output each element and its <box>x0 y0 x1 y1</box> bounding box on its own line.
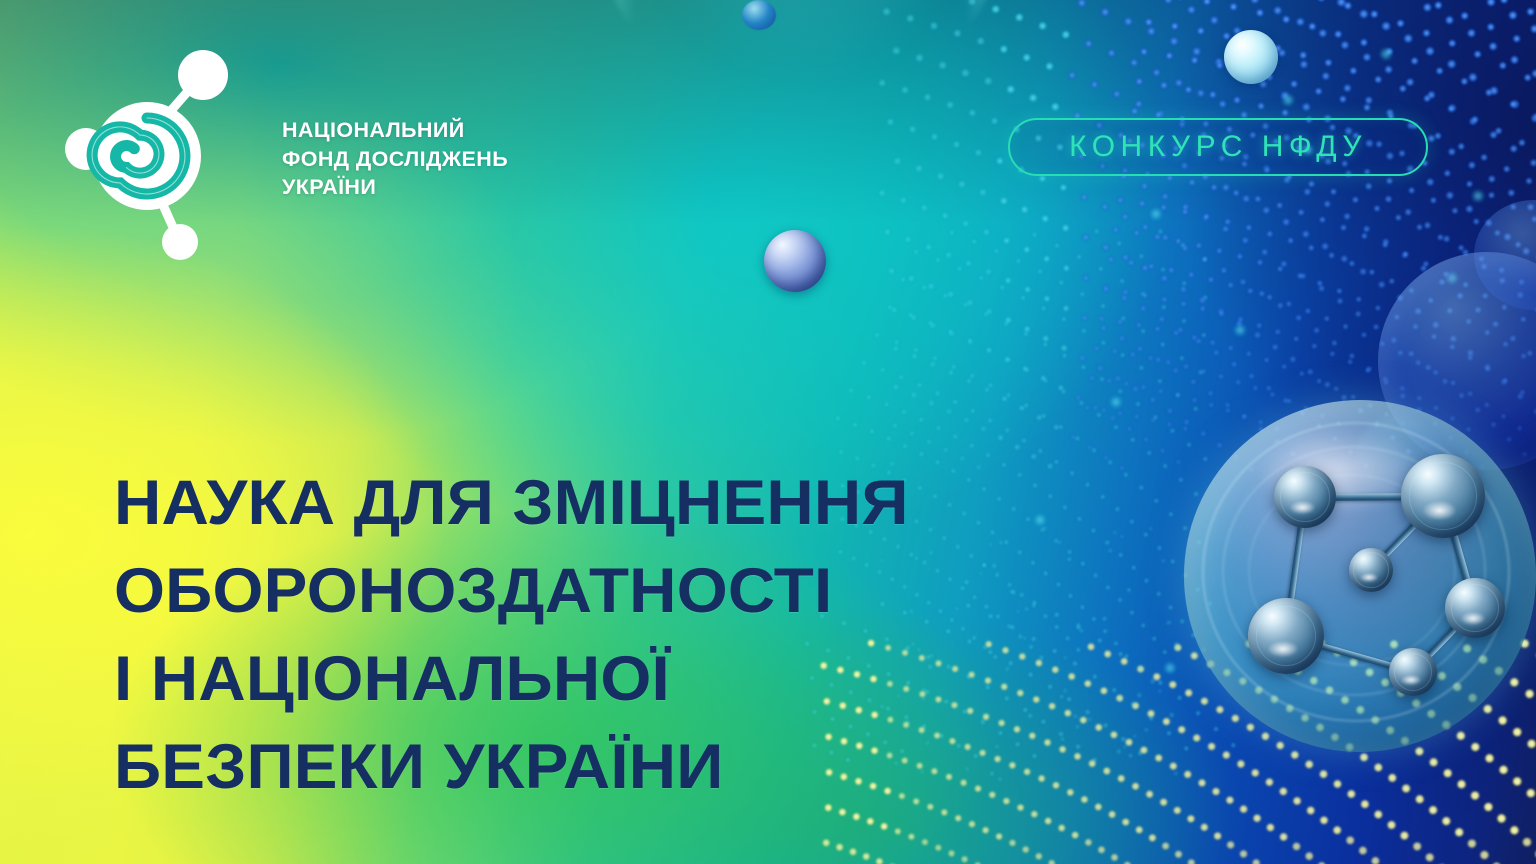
metallic-sphere-center <box>764 230 826 292</box>
nrfu-molecule-spiral-logo-icon <box>64 44 238 268</box>
headline-line-2: ОБОРОНОЗДАТНОСТІ <box>114 560 1112 623</box>
logo-wordmark: НАЦІОНАЛЬНИЙ ФОНД ДОСЛІДЖЕНЬ УКРАЇНИ <box>282 116 508 202</box>
atom-rim <box>1409 462 1476 529</box>
molecule-atom-bottom <box>1389 648 1437 696</box>
molecule-atom-right <box>1445 578 1505 638</box>
molecule-atom-lower-left <box>1248 598 1324 674</box>
headline-line-3: І НАЦІОНАЛЬНОЇ <box>114 648 1112 711</box>
banner-root: НАЦІОНАЛЬНИЙ ФОНД ДОСЛІДЖЕНЬ УКРАЇНИ КОН… <box>0 0 1536 864</box>
atom-rim <box>1451 584 1499 632</box>
pale-cyan-sphere-top-right <box>1224 30 1278 84</box>
page-title: НАУКА ДЛЯ ЗМІЦНЕННЯ ОБОРОНОЗДАТНОСТІ І Н… <box>114 472 1074 799</box>
atom-rim <box>1353 552 1388 587</box>
headline-line-1: НАУКА ДЛЯ ЗМІЦНЕННЯ <box>114 472 1112 535</box>
logo-line-3: УКРАЇНИ <box>282 173 508 202</box>
atom-rim <box>1394 653 1432 691</box>
atom-highlight <box>1461 612 1485 625</box>
molecule-atom-upper-right <box>1401 454 1485 538</box>
contest-badge[interactable]: КОНКУРС НФДУ <box>1008 118 1428 176</box>
atom-rim <box>1256 606 1317 667</box>
contest-badge-label: КОНКУРС НФДУ <box>1069 130 1367 164</box>
headline-line-4: БЕЗПЕКИ УКРАЇНИ <box>114 736 1112 799</box>
small-droplet-icon <box>742 0 776 30</box>
logo-line-2: ФОНД ДОСЛІДЖЕНЬ <box>282 145 508 174</box>
atom-rim <box>1280 472 1330 522</box>
molecule-in-bubble-graphic <box>1184 400 1536 752</box>
logo-line-1: НАЦІОНАЛЬНИЙ <box>282 116 508 145</box>
molecule-atom-center <box>1349 548 1393 592</box>
molecule-atom-upper-left <box>1274 466 1336 528</box>
logo[interactable]: НАЦІОНАЛЬНИЙ ФОНД ДОСЛІДЖЕНЬ УКРАЇНИ <box>64 44 494 268</box>
atom-highlight <box>1423 501 1457 519</box>
